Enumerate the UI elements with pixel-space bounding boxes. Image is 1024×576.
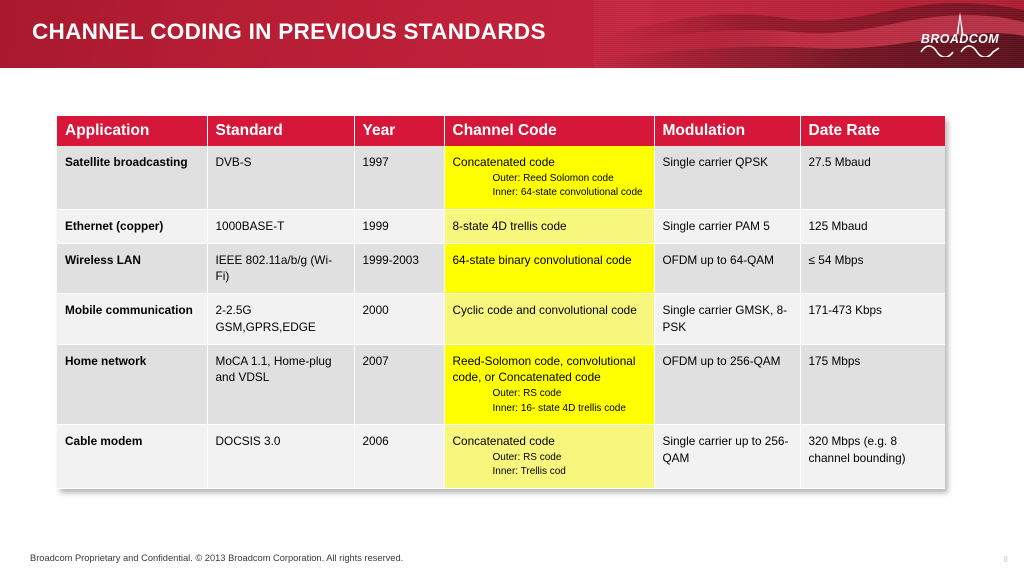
cell-date-rate: 27.5 Mbaud [800,146,945,209]
channel-code-sub: Outer: Reed Solomon code [493,172,646,187]
cell-date-rate: 171-473 Kbps [800,294,945,345]
broadcom-logo: BROADCOM [912,12,1008,58]
logo-peak-icon [950,12,970,34]
channel-code-sub: Outer: RS code [493,451,646,466]
logo-text: BROADCOM [912,32,1008,46]
cell-modulation: OFDM up to 256-QAM [654,344,800,425]
page-number: 8 [1004,555,1008,564]
channel-code-main: Cyclic code and convolutional code [453,302,646,319]
cell-application: Cable modem [57,425,207,489]
cell-application: Ethernet (copper) [57,209,207,243]
table-row: Wireless LANIEEE 802.11a/b/g (Wi-Fi)1999… [57,243,945,294]
cell-year: 1999-2003 [354,243,444,294]
cell-modulation: Single carrier GMSK, 8-PSK [654,294,800,345]
table-body: Satellite broadcastingDVB-S1997Concatena… [57,146,945,488]
cell-date-rate: 320 Mbps (e.g. 8 channel bounding) [800,425,945,489]
channel-code-main: Reed-Solomon code, convolutional code, o… [453,353,646,387]
page-title: CHANNEL CODING IN PREVIOUS STANDARDS [32,19,546,45]
column-header-application: Application [57,116,207,146]
channel-code-sub: Outer: RS code [493,387,646,402]
column-header-modulation: Modulation [654,116,800,146]
cell-year: 2006 [354,425,444,489]
slide-header: CHANNEL CODING IN PREVIOUS STANDARDS BRO… [0,0,1024,68]
cell-year: 2000 [354,294,444,345]
cell-application: Satellite broadcasting [57,146,207,209]
cell-application: Wireless LAN [57,243,207,294]
column-header-channel-code: Channel Code [444,116,654,146]
cell-year: 2007 [354,344,444,425]
cell-year: 1997 [354,146,444,209]
table-row: Mobile communication2-2.5G GSM,GPRS,EDGE… [57,294,945,345]
table-row: Home networkMoCA 1.1, Home-plug and VDSL… [57,344,945,425]
cell-channel-code: 8-state 4D trellis code [444,209,654,243]
channel-code-main: Concatenated code [453,433,646,450]
cell-channel-code: Cyclic code and convolutional code [444,294,654,345]
channel-code-main: Concatenated code [453,154,646,171]
column-header-standard: Standard [207,116,354,146]
cell-date-rate: 175 Mbps [800,344,945,425]
channel-code-main: 64-state binary convolutional code [453,252,646,269]
channel-code-sub: Inner: 16- state 4D trellis code [493,402,646,417]
cell-channel-code: Reed-Solomon code, convolutional code, o… [444,344,654,425]
cell-modulation: Single carrier QPSK [654,146,800,209]
cell-standard: 1000BASE-T [207,209,354,243]
cell-channel-code: Concatenated codeOuter: RS codeInner: Tr… [444,425,654,489]
table-row: Cable modemDOCSIS 3.02006Concatenated co… [57,425,945,489]
column-header-date-rate: Date Rate [800,116,945,146]
cell-modulation: Single carrier up to 256-QAM [654,425,800,489]
cell-modulation: OFDM up to 64-QAM [654,243,800,294]
logo-waves-icon [920,45,1000,57]
cell-standard: DVB-S [207,146,354,209]
standards-table-container: Application Standard Year Channel Code M… [57,116,945,489]
column-header-year: Year [354,116,444,146]
channel-code-sub: Inner: 64-state convolutional code [493,186,646,201]
table-row: Satellite broadcastingDVB-S1997Concatena… [57,146,945,209]
cell-standard: DOCSIS 3.0 [207,425,354,489]
cell-standard: MoCA 1.1, Home-plug and VDSL [207,344,354,425]
table-header-row: Application Standard Year Channel Code M… [57,116,945,146]
cell-date-rate: 125 Mbaud [800,209,945,243]
table-row: Ethernet (copper)1000BASE-T19998-state 4… [57,209,945,243]
cell-application: Home network [57,344,207,425]
cell-year: 1999 [354,209,444,243]
channel-code-main: 8-state 4D trellis code [453,218,646,235]
cell-modulation: Single carrier PAM 5 [654,209,800,243]
channel-code-sub: Inner: Trellis cod [493,465,646,480]
cell-application: Mobile communication [57,294,207,345]
standards-table: Application Standard Year Channel Code M… [57,116,945,489]
cell-date-rate: ≤ 54 Mbps [800,243,945,294]
cell-standard: 2-2.5G GSM,GPRS,EDGE [207,294,354,345]
cell-channel-code: 64-state binary convolutional code [444,243,654,294]
cell-standard: IEEE 802.11a/b/g (Wi-Fi) [207,243,354,294]
cell-channel-code: Concatenated codeOuter: Reed Solomon cod… [444,146,654,209]
footer-copyright: Broadcom Proprietary and Confidential. ©… [30,553,403,563]
